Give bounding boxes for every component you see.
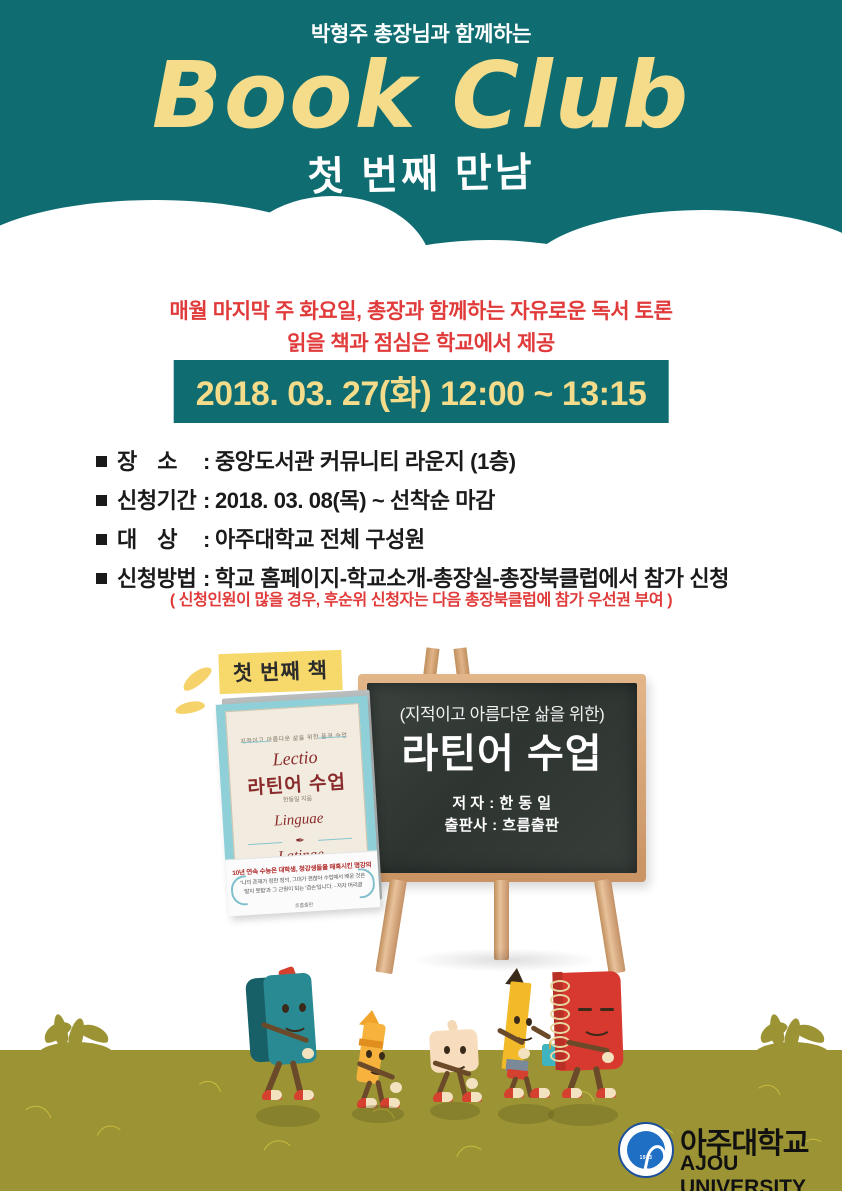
priority-note: ( 신청인원이 많을 경우, 후순위 신청자는 다음 총장북클럽에 참가 우선권… [0,586,842,610]
logo-english-name: AJOU UNIVERSITY [680,1152,828,1191]
backpack-character [246,972,336,1100]
date-time-banner: 2018. 03. 27(화) 12:00 ~ 13:15 [174,360,669,423]
first-book-badge: 첫 번째 책 [218,650,342,694]
logo-year: 1973 [627,1155,665,1161]
eye [379,1052,385,1060]
eye [299,1003,306,1012]
eraser-character [422,1022,492,1104]
hand [518,1048,530,1059]
plant-right [752,1014,832,1060]
shoe [504,1088,524,1098]
book-publisher-value: 흐름출판 [502,817,559,834]
spark-leaf-icon [180,663,215,694]
character-shadow [352,1105,404,1123]
detail-row-location: 장소 : 중앙도서관 커뮤니티 라운지 (1층) [96,444,776,476]
hand [302,1048,314,1059]
notebook-character [538,968,642,1100]
easel: (지적이고 아름다운 삶을 위한) 라틴어 수업 저자 : 한 동 일 출판사 … [330,648,675,978]
character-shadow [498,1104,554,1124]
plant-left [36,1014,116,1060]
detail-row-period: 신청기간 : 2018. 03. 08(목) ~ 선착순 마감 [96,483,776,515]
first-book-badge-label: 첫 번째 책 [233,659,329,685]
notebook-ring [550,994,570,1006]
grass-blade-line [89,1121,140,1186]
eye [366,1050,372,1058]
eye [526,1018,532,1026]
notebook-ring [550,1008,570,1020]
plant-mound [754,1042,830,1068]
detail-key-period: 신청기간 [117,483,203,515]
eye-closed [600,1008,614,1011]
book-title: 라틴어 수업 [367,721,637,779]
shoe [262,1090,282,1100]
shoe [294,1090,314,1100]
details-list: 장소 : 중앙도서관 커뮤니티 라운지 (1층) 신청기간 : 2018. 03… [96,444,776,600]
book-meta: 저자 : 한 동 일 출판사 : 흐름출판 [367,793,637,837]
spark-leaf-icon [174,699,206,716]
eye [514,1016,520,1024]
bullet-square-icon [96,573,107,584]
bullet-square-icon [96,495,107,506]
book-author-value: 한 동 일 [499,795,551,812]
notebook-ring [550,1050,570,1062]
notebook-ring [550,1022,570,1034]
eye [282,1004,289,1013]
bullet-square-icon [96,456,107,467]
shoe [433,1092,453,1102]
eye-closed [578,1008,592,1011]
detail-value-location: 중앙도서관 커뮤니티 라운지 (1층) [215,444,516,476]
shoe [562,1088,582,1098]
poster-main-title: Book Club [0,48,842,145]
detail-row-audience: 대상 : 아주대학교 전체 구성원 [96,522,776,554]
hand [390,1082,402,1093]
hand [602,1052,614,1063]
logo-inner-disc: 1973 [627,1131,665,1169]
character-shadow [430,1102,480,1120]
shoe [462,1092,482,1102]
mouth [582,1016,612,1036]
hand [466,1078,478,1089]
character-shadow [256,1105,320,1127]
detail-colon: : [203,449,210,475]
bullet-square-icon [96,534,107,545]
blackboard-frame: (지적이고 아름다운 삶을 위한) 라틴어 수업 저자 : 한 동 일 출판사 … [358,674,646,882]
book-publisher-row: 출판사 : 흐름출판 [367,815,637,837]
blackboard: (지적이고 아름다운 삶을 위한) 라틴어 수업 저자 : 한 동 일 출판사 … [367,683,637,873]
grass-blade-line [177,1075,229,1138]
crayon-character [350,1010,412,1102]
detail-colon: : [203,488,210,514]
grass-blade-line [448,1141,502,1191]
eye [460,1046,466,1054]
intro-line-2: 읽을 책과 점심은 학교에서 제공 [0,328,842,360]
character-shadow [548,1104,618,1126]
book-cover: 지적이고 아름다운 삶을 위한 품격 수업 Lectio 라틴어 수업 한동일 … [216,696,381,917]
detail-value-period: 2018. 03. 08(목) ~ 선착순 마감 [215,483,495,515]
detail-colon: : [203,527,210,553]
book-cover-caption: 지적이고 아름다운 삶을 위한 품격 수업 [228,729,360,746]
eye [444,1046,450,1054]
plant-mound [38,1042,114,1068]
detail-value-audience: 아주대학교 전체 구성원 [215,522,425,554]
intro-text: 매월 마지막 주 화요일, 총장과 함께하는 자유로운 독서 토론 읽을 책과 … [0,296,842,359]
grass-blade-line [1,1100,60,1172]
intro-line-1: 매월 마지막 주 화요일, 총장과 함께하는 자유로운 독서 토론 [0,296,842,328]
detail-key-audience: 대상 [117,522,203,554]
notebook-ring [550,980,570,992]
book-author-row: 저자 : 한 동 일 [367,793,637,815]
poster-root: 박형주 총장님과 함께하는 Book Club 첫 번째 만남 매월 마지막 주… [0,0,842,1191]
shoe [596,1088,616,1098]
detail-key-location: 장소 [117,444,203,476]
ajou-university-logo: 1973 아주대학교 AJOU UNIVERSITY [618,1118,828,1180]
book-obi-band: 10년 연속 수능은 대학생, 청강생들을 매혹시킨 명강의 "나의 존재가 정… [221,850,380,916]
book-cover-linguae: Linguae [232,808,365,833]
grass-blade-line [255,1137,307,1191]
ajou-logo-mark-icon: 1973 [618,1122,674,1178]
